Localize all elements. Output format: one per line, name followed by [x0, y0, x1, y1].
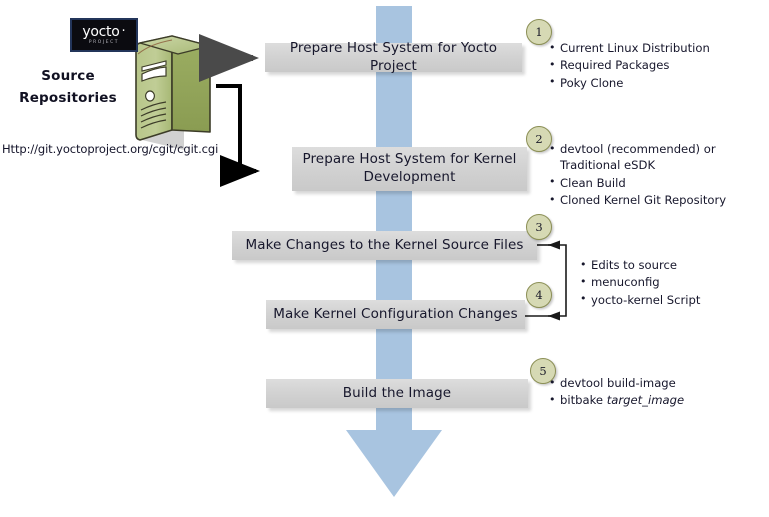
list-item-text: bitbake — [560, 393, 607, 407]
list-item: Poky Clone — [549, 75, 764, 91]
process-box-step5-label: Build the Image — [343, 385, 451, 403]
process-box-step1[interactable]: Prepare Host System for Yocto Project — [265, 43, 522, 72]
process-box-step3[interactable]: Make Changes to the Kernel Source Files — [232, 231, 537, 260]
process-box-step1-label: Prepare Host System for Yocto Project — [265, 40, 522, 76]
arrow-server-to-step2 — [216, 86, 256, 171]
list-item: devtool build-image — [549, 375, 764, 391]
source-label-line1: Source — [8, 66, 128, 88]
final-arrow-icon — [346, 430, 442, 497]
list-item: Cloned Kernel Git Repository — [549, 192, 764, 208]
server-icon — [136, 36, 210, 150]
yocto-project-logo: yocto · PROJECT — [70, 18, 138, 52]
source-label-line2: Repositories — [8, 88, 128, 110]
step-badge-3: 3 — [526, 214, 552, 240]
bullet-list-steps-3-and-4: Edits to source menuconfig yocto-kernel … — [580, 257, 760, 309]
process-box-step5[interactable]: Build the Image — [266, 379, 528, 408]
list-item: yocto-kernel Script — [580, 292, 760, 308]
step-badge-4: 4 — [526, 282, 552, 308]
logo-wordmark: yocto — [82, 25, 119, 39]
process-box-step2[interactable]: Prepare Host System for Kernel Developme… — [292, 147, 527, 191]
list-item: Edits to source — [580, 257, 760, 273]
diagram-canvas: yocto · PROJECT Source Repositories Http… — [0, 0, 769, 517]
list-item: Required Packages — [549, 57, 764, 73]
process-box-step3-label: Make Changes to the Kernel Source Files — [245, 237, 523, 255]
list-item: devtool (recommended) or Traditional eSD… — [549, 141, 764, 174]
bullet-list-step2: devtool (recommended) or Traditional eSD… — [549, 141, 764, 210]
process-box-step2-label: Prepare Host System for Kernel Developme… — [292, 151, 527, 187]
list-item-emphasis: target_image — [607, 393, 684, 407]
list-item: menuconfig — [580, 274, 760, 290]
logo-subtitle: PROJECT — [89, 41, 119, 45]
source-repository-url: Http://git.yoctoproject.org/cgit/cgit.cg… — [2, 142, 218, 156]
bullet-list-step1: Current Linux Distribution Required Pack… — [549, 40, 764, 92]
process-box-step4[interactable]: Make Kernel Configuration Changes — [266, 300, 525, 329]
process-box-step4-label: Make Kernel Configuration Changes — [273, 306, 517, 324]
list-item: Current Linux Distribution — [549, 40, 764, 56]
source-repositories-label: Source Repositories — [8, 66, 128, 109]
logo-dot: · — [119, 25, 125, 38]
list-item: Clean Build — [549, 175, 764, 191]
list-item: bitbake target_image — [549, 392, 764, 408]
bullet-list-step5: devtool build-image bitbake target_image — [549, 375, 764, 410]
